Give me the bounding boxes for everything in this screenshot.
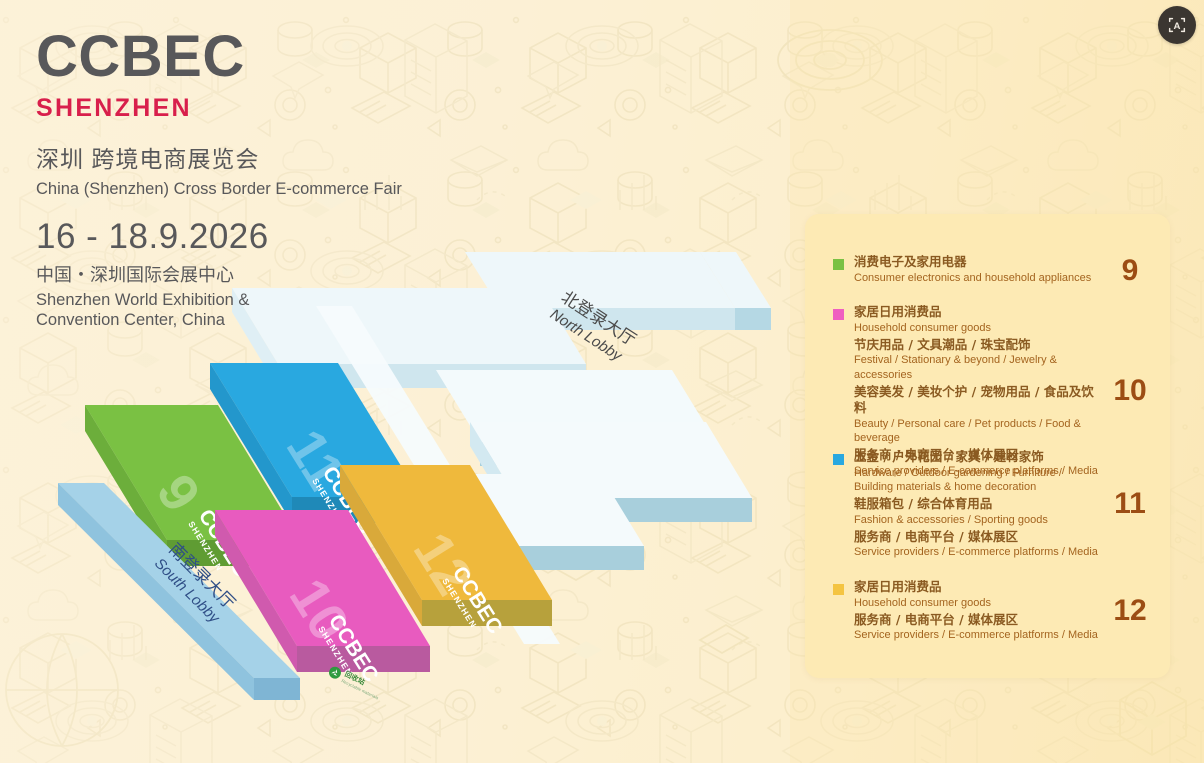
legend-categories-11: 五金 / 户外花园 / 家具 / 建材家饰Hardware / Outdoor … <box>854 449 1104 560</box>
header-block: CCBEC SHENZHEN 深圳 跨境电商展览会 China (Shenzhe… <box>36 28 402 330</box>
legend-category-en: Consumer electronics and household appli… <box>854 271 1098 285</box>
legend-category-cn: 服务商 / 电商平台 / 媒体展区 <box>854 612 1098 629</box>
legend-category-en: Festival / Stationary & beyond / Jewelry… <box>854 353 1098 382</box>
fair-name-cn: 深圳 跨境电商展览会 <box>36 146 402 174</box>
legend-category-group: 消费电子及家用电器Consumer electronics and househ… <box>854 254 1098 285</box>
legend-category-group: 服务商 / 电商平台 / 媒体展区Service providers / E-c… <box>854 612 1098 643</box>
accessibility-focus-icon: A <box>1166 14 1188 36</box>
legend-category-group: 五金 / 户外花园 / 家具 / 建材家饰Hardware / Outdoor … <box>854 449 1098 494</box>
legend-categories-12: 家居日用消费品Household consumer goods服务商 / 电商平… <box>854 579 1104 643</box>
legend-category-cn: 服务商 / 电商平台 / 媒体展区 <box>854 529 1098 546</box>
legend-category-en: Fashion & accessories / Sporting goods <box>854 513 1098 527</box>
legend-category-group: 家居日用消费品Household consumer goods <box>854 579 1098 610</box>
legend-item-hall-9[interactable]: 消费电子及家用电器Consumer electronics and househ… <box>833 254 1156 288</box>
legend-hall-number-12: 12 <box>1104 579 1156 643</box>
legend-item-hall-11[interactable]: 五金 / 户外花园 / 家具 / 建材家饰Hardware / Outdoor … <box>833 449 1156 560</box>
legend-category-cn: 家居日用消费品 <box>854 304 1098 321</box>
venue-name-cn: 中国・深圳国际会展中心 <box>36 264 402 287</box>
legend-category-en: Service providers / E-commerce platforms… <box>854 545 1098 559</box>
brand-city: SHENZHEN <box>36 96 402 121</box>
legend-category-en: Household consumer goods <box>854 321 1098 335</box>
legend-category-group: 节庆用品 / 文具潮品 / 珠宝配饰Festival / Stationary … <box>854 337 1098 382</box>
legend-hall-number-9: 9 <box>1104 254 1156 288</box>
legend-category-cn: 消费电子及家用电器 <box>854 254 1098 271</box>
legend-swatch-10 <box>833 309 844 320</box>
legend-panel: 消费电子及家用电器Consumer electronics and househ… <box>805 214 1170 678</box>
legend-hall-number-11: 11 <box>1104 449 1156 560</box>
legend-category-en: Service providers / E-commerce platforms… <box>854 628 1098 642</box>
legend-category-group: 家居日用消费品Household consumer goods <box>854 304 1098 335</box>
legend-category-en: Beauty / Personal care / Pet products / … <box>854 417 1098 446</box>
legend-categories-9: 消费电子及家用电器Consumer electronics and househ… <box>854 254 1104 288</box>
brand-title: CCBEC <box>36 28 402 86</box>
svg-text:A: A <box>1174 21 1181 32</box>
legend-category-cn: 五金 / 户外花园 / 家具 / 建材家饰 <box>854 449 1098 466</box>
legend-swatch-12 <box>833 584 844 595</box>
legend-category-cn: 美容美发 / 美妆个护 / 宠物用品 / 食品及饮料 <box>854 384 1098 417</box>
venue-name-en: Shenzhen World Exhibition & Convention C… <box>36 290 271 330</box>
legend-swatch-11 <box>833 454 844 465</box>
legend-category-cn: 家居日用消费品 <box>854 579 1098 596</box>
legend-category-group: 鞋服箱包 / 综合体育用品Fashion & accessories / Spo… <box>854 496 1098 527</box>
legend-category-en: Household consumer goods <box>854 596 1098 610</box>
legend-category-en: Hardware / Outdoor gardening / Furniture… <box>854 466 1098 495</box>
legend-category-cn: 鞋服箱包 / 综合体育用品 <box>854 496 1098 513</box>
accessibility-button[interactable]: A <box>1158 6 1196 44</box>
legend-category-cn: 节庆用品 / 文具潮品 / 珠宝配饰 <box>854 337 1098 354</box>
legend-swatch-9 <box>833 259 844 270</box>
legend-category-group: 服务商 / 电商平台 / 媒体展区Service providers / E-c… <box>854 529 1098 560</box>
legend-item-hall-12[interactable]: 家居日用消费品Household consumer goods服务商 / 电商平… <box>833 579 1156 643</box>
legend-category-group: 美容美发 / 美妆个护 / 宠物用品 / 食品及饮料Beauty / Perso… <box>854 384 1098 446</box>
event-date: 16 - 18.9.2026 <box>36 219 402 254</box>
fair-name-en: China (Shenzhen) Cross Border E-commerce… <box>36 180 402 200</box>
